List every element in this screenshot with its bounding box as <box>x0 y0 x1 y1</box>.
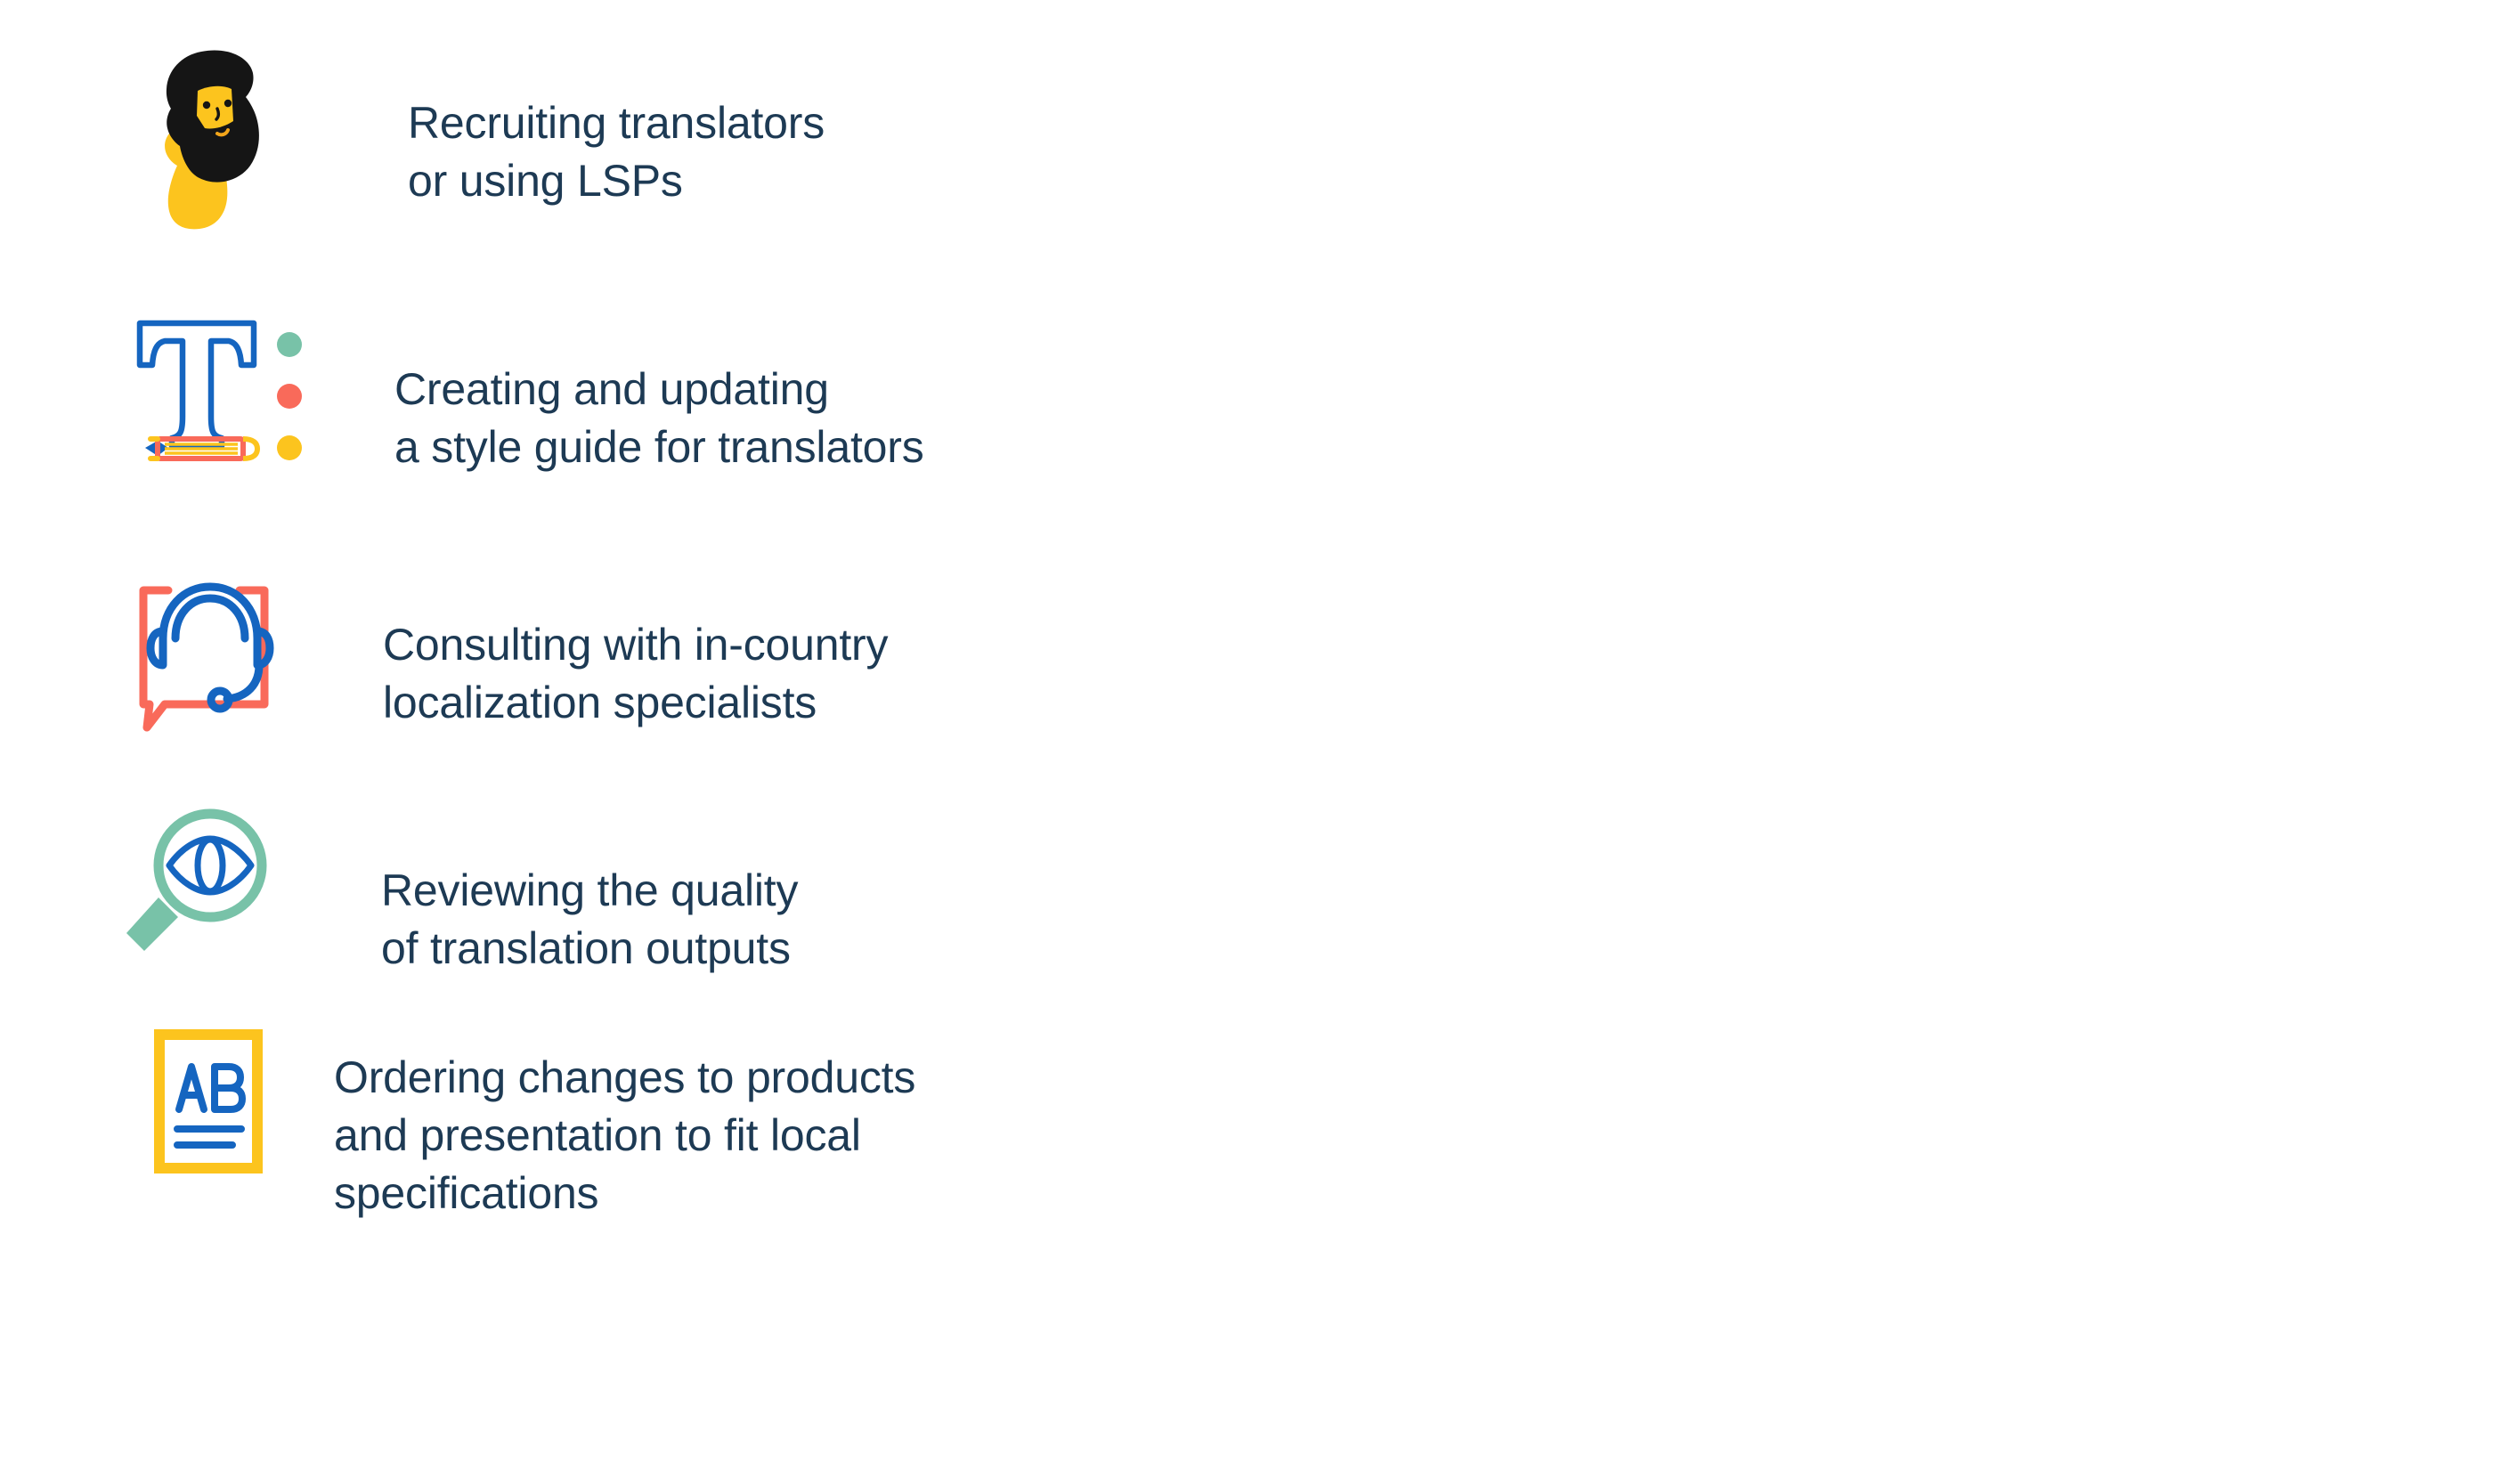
list-item-label: Recruiting translators or using LSPs <box>408 94 825 210</box>
person-illustration-icon <box>142 43 303 230</box>
dot-teal <box>277 332 302 357</box>
dot-coral <box>277 384 302 409</box>
list-item: Ordering changes to products and present… <box>147 1024 915 1222</box>
ab-document-icon <box>147 1024 272 1184</box>
localization-responsibilities-board: Recruiting translators or using LSPs <box>0 0 2520 1299</box>
list-item-label: Consulting with in-country localization … <box>383 616 888 732</box>
magnifier-eye-icon <box>105 792 292 970</box>
list-item-label: Creating and updating a style guide for … <box>394 361 924 476</box>
list-item: Creating and updating a style guide for … <box>120 307 924 476</box>
dot-yellow <box>277 435 302 460</box>
list-item: Reviewing the quality of translation out… <box>105 792 798 978</box>
list-item: Recruiting translators or using LSPs <box>142 43 825 230</box>
list-item-label: Ordering changes to products and present… <box>334 1049 915 1222</box>
list-item: Consulting with in-country localization … <box>111 556 888 735</box>
headset-speech-bubble-icon <box>111 556 303 735</box>
typography-t-with-pencil-icon <box>120 307 325 476</box>
list-item-label: Reviewing the quality of translation out… <box>381 862 798 978</box>
